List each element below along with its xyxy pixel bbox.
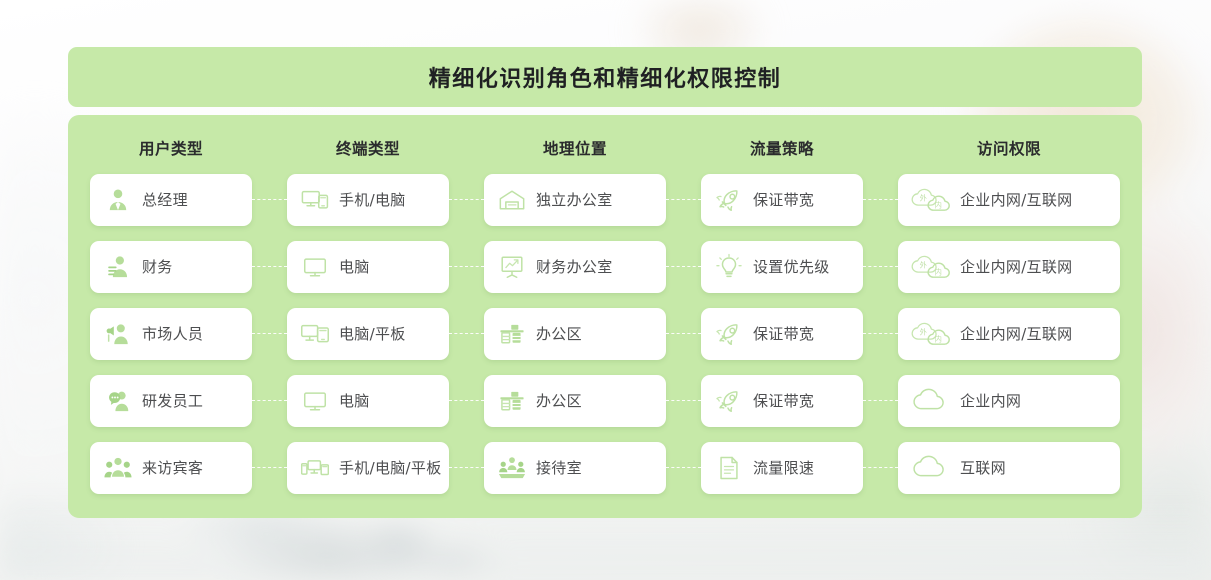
panel-title-bar: 精细化识别角色和精细化权限控制 — [68, 47, 1142, 107]
cell-policy-row-5[interactable]: 流量限速 — [701, 442, 863, 494]
phone-monitor-tablet-icon — [300, 453, 330, 483]
meeting-icon — [497, 453, 527, 483]
cell-label: 企业内网/互联网 — [960, 256, 1072, 277]
connector-device-type-to-location-row-5 — [449, 442, 484, 494]
dual-cloud-icon — [911, 252, 951, 282]
connector-device-type-to-location-row-4 — [449, 375, 484, 427]
cell-policy-row-4[interactable]: 保证带宽 — [701, 375, 863, 427]
connector-device-type-to-location-row-3 — [449, 308, 484, 360]
connector-line — [252, 467, 287, 468]
connector-line — [666, 199, 701, 200]
cell-device-type-row-5[interactable]: 手机/电脑/平板 — [287, 442, 449, 494]
monitor-icon — [300, 386, 330, 416]
cell-label: 电脑 — [339, 256, 370, 277]
permission-matrix-panel: 精细化识别角色和精细化权限控制 用户类型 终端类型 地理位置 流量策略 访问权限… — [68, 47, 1142, 518]
cell-label: 保证带宽 — [753, 189, 814, 210]
cell-access-row-4[interactable]: 企业内网 — [898, 375, 1120, 427]
connector-line — [449, 266, 484, 267]
cell-label: 电脑/平板 — [339, 323, 406, 344]
cell-user-type-row-2[interactable]: 财务 — [90, 241, 252, 293]
cell-user-type-row-1[interactable]: 总经理 — [90, 174, 252, 226]
cell-location-row-2[interactable]: 财务办公室 — [484, 241, 666, 293]
chart-board-icon — [497, 252, 527, 282]
cell-label: 流量限速 — [753, 457, 814, 478]
column-header-device-type: 终端类型 — [287, 137, 449, 159]
connector-line — [863, 266, 898, 267]
cell-label: 总经理 — [142, 189, 188, 210]
cell-label: 市场人员 — [142, 323, 203, 344]
cell-user-type-row-3[interactable]: 市场人员 — [90, 308, 252, 360]
person-finance-icon — [103, 252, 133, 282]
cell-location-row-5[interactable]: 接待室 — [484, 442, 666, 494]
connector-line — [666, 266, 701, 267]
monitor-icon — [300, 252, 330, 282]
page-title: 精细化识别角色和精细化权限控制 — [429, 61, 782, 93]
matrix-body: 用户类型 终端类型 地理位置 流量策略 访问权限 总经理手机/电脑独立办公室保证… — [68, 115, 1142, 518]
cell-label: 手机/电脑/平板 — [339, 457, 442, 478]
connector-line — [863, 400, 898, 401]
cell-policy-row-2[interactable]: 设置优先级 — [701, 241, 863, 293]
document-icon — [714, 453, 744, 483]
cell-label: 互联网 — [960, 457, 1006, 478]
connector-user-type-to-device-type-row-2 — [252, 241, 287, 293]
column-header-location: 地理位置 — [484, 137, 666, 159]
connector-policy-to-access-row-1 — [863, 174, 898, 226]
cell-label: 办公区 — [536, 323, 582, 344]
monitor-phone-icon — [300, 185, 330, 215]
connector-line — [863, 333, 898, 334]
cell-access-row-2[interactable]: 企业内网/互联网 — [898, 241, 1120, 293]
cell-location-row-4[interactable]: 办公区 — [484, 375, 666, 427]
dual-cloud-icon — [911, 185, 951, 215]
connector-line — [252, 333, 287, 334]
connector-line — [666, 333, 701, 334]
people-group-icon — [103, 453, 133, 483]
cell-label: 保证带宽 — [753, 390, 814, 411]
cell-label: 财务 — [142, 256, 173, 277]
cell-label: 财务办公室 — [536, 256, 613, 277]
cell-label: 来访宾客 — [142, 457, 203, 478]
column-header-access: 访问权限 — [898, 137, 1120, 159]
cell-label: 研发员工 — [142, 390, 203, 411]
connector-location-to-policy-row-3 — [666, 308, 701, 360]
connector-policy-to-access-row-5 — [863, 442, 898, 494]
cell-user-type-row-5[interactable]: 来访宾客 — [90, 442, 252, 494]
connector-line — [252, 199, 287, 200]
person-tie-icon — [103, 185, 133, 215]
connector-line — [666, 400, 701, 401]
lightbulb-icon — [714, 252, 744, 282]
cell-user-type-row-4[interactable]: 研发员工 — [90, 375, 252, 427]
person-dev-icon — [103, 386, 133, 416]
cell-label: 手机/电脑 — [339, 189, 406, 210]
connector-user-type-to-device-type-row-1 — [252, 174, 287, 226]
connector-line — [449, 400, 484, 401]
cell-policy-row-1[interactable]: 保证带宽 — [701, 174, 863, 226]
connector-location-to-policy-row-5 — [666, 442, 701, 494]
connector-line — [863, 467, 898, 468]
desk-icon — [497, 319, 527, 349]
cell-label: 企业内网/互联网 — [960, 323, 1072, 344]
rocket-icon — [714, 386, 744, 416]
cell-device-type-row-1[interactable]: 手机/电脑 — [287, 174, 449, 226]
connector-line — [449, 199, 484, 200]
connector-line — [252, 266, 287, 267]
slide-canvas: 精细化识别角色和精细化权限控制 用户类型 终端类型 地理位置 流量策略 访问权限… — [0, 0, 1211, 580]
cell-label: 接待室 — [536, 457, 582, 478]
connector-line — [666, 467, 701, 468]
cell-access-row-3[interactable]: 企业内网/互联网 — [898, 308, 1120, 360]
cell-label: 电脑 — [339, 390, 370, 411]
column-header-policy: 流量策略 — [701, 137, 863, 159]
cell-access-row-5[interactable]: 互联网 — [898, 442, 1120, 494]
connector-user-type-to-device-type-row-4 — [252, 375, 287, 427]
cloud-icon — [911, 453, 951, 483]
house-icon — [497, 185, 527, 215]
connector-line — [863, 199, 898, 200]
cell-device-type-row-2[interactable]: 电脑 — [287, 241, 449, 293]
connector-policy-to-access-row-2 — [863, 241, 898, 293]
cell-location-row-3[interactable]: 办公区 — [484, 308, 666, 360]
connector-user-type-to-device-type-row-3 — [252, 308, 287, 360]
cell-label: 企业内网/互联网 — [960, 189, 1072, 210]
column-header-user-type: 用户类型 — [90, 137, 252, 159]
connector-policy-to-access-row-4 — [863, 375, 898, 427]
connector-line — [252, 400, 287, 401]
connector-line — [449, 467, 484, 468]
cell-label: 保证带宽 — [753, 323, 814, 344]
connector-line — [449, 333, 484, 334]
connector-user-type-to-device-type-row-5 — [252, 442, 287, 494]
cloud-icon — [911, 386, 951, 416]
cell-label: 办公区 — [536, 390, 582, 411]
cell-location-row-1[interactable]: 独立办公室 — [484, 174, 666, 226]
connector-location-to-policy-row-2 — [666, 241, 701, 293]
rocket-icon — [714, 319, 744, 349]
cell-device-type-row-3[interactable]: 电脑/平板 — [287, 308, 449, 360]
cell-label: 企业内网 — [960, 390, 1021, 411]
rocket-icon — [714, 185, 744, 215]
cell-label: 设置优先级 — [753, 256, 830, 277]
connector-location-to-policy-row-4 — [666, 375, 701, 427]
person-megaphone-icon — [103, 319, 133, 349]
dual-cloud-icon — [911, 319, 951, 349]
monitor-tablet-icon — [300, 319, 330, 349]
desk-icon — [497, 386, 527, 416]
cell-device-type-row-4[interactable]: 电脑 — [287, 375, 449, 427]
connector-policy-to-access-row-3 — [863, 308, 898, 360]
cell-label: 独立办公室 — [536, 189, 613, 210]
connector-device-type-to-location-row-2 — [449, 241, 484, 293]
connector-device-type-to-location-row-1 — [449, 174, 484, 226]
cell-policy-row-3[interactable]: 保证带宽 — [701, 308, 863, 360]
matrix-grid: 用户类型 终端类型 地理位置 流量策略 访问权限 总经理手机/电脑独立办公室保证… — [90, 133, 1120, 498]
cell-access-row-1[interactable]: 企业内网/互联网 — [898, 174, 1120, 226]
connector-location-to-policy-row-1 — [666, 174, 701, 226]
